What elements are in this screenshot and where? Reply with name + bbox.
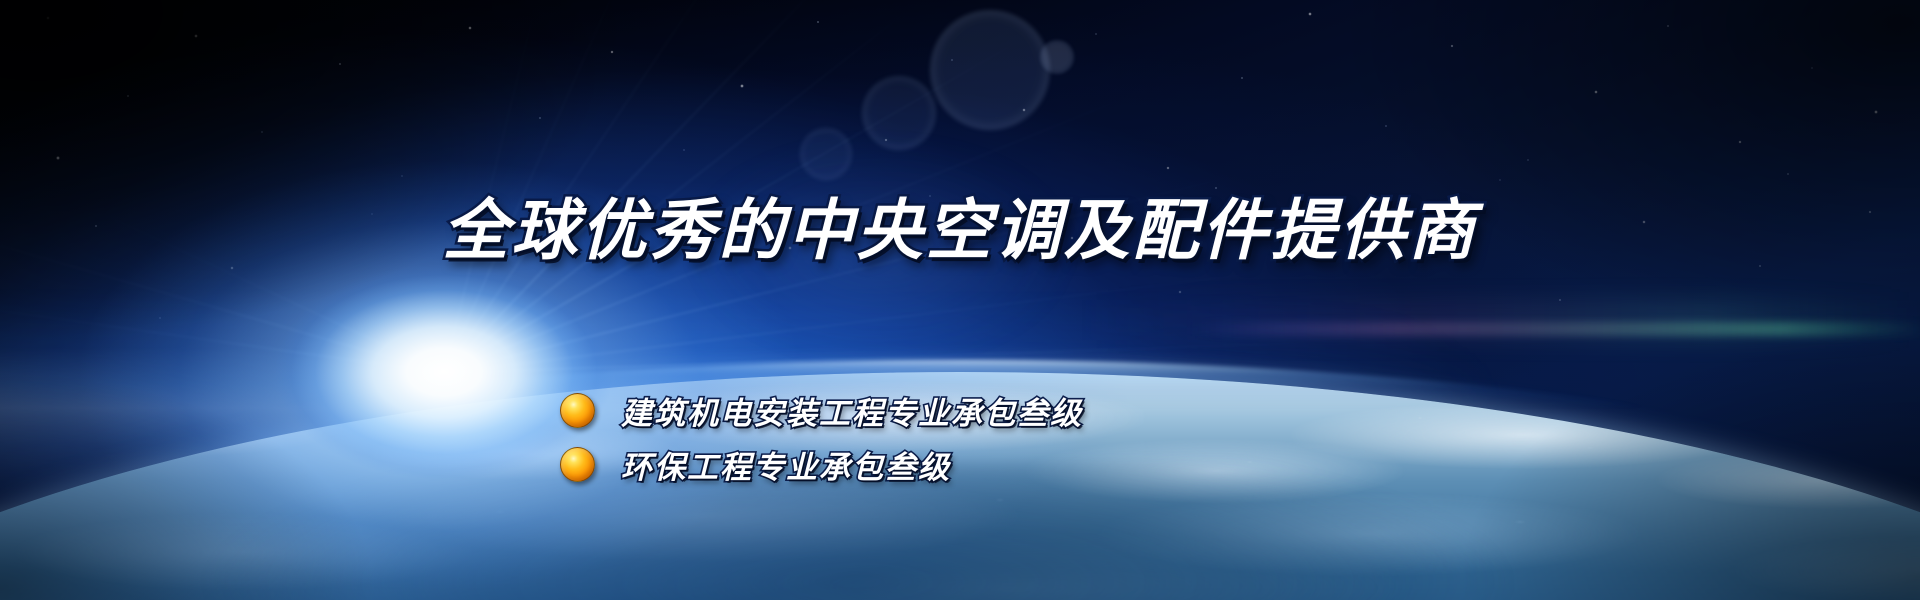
banner-content: 全球优秀的中央空调及配件提供商 建筑机电安装工程专业承包叁级 环保工程专业承包叁…	[0, 0, 1920, 600]
banner-headline: 全球优秀的中央空调及配件提供商	[0, 198, 1920, 264]
feature-list: 建筑机电安装工程专业承包叁级 环保工程专业承包叁级	[560, 384, 1083, 492]
list-item-label: 环保工程专业承包叁级	[621, 442, 951, 487]
list-item: 环保工程专业承包叁级	[560, 438, 1083, 490]
list-item: 建筑机电安装工程专业承包叁级	[560, 384, 1083, 436]
hero-banner: 全球优秀的中央空调及配件提供商 建筑机电安装工程专业承包叁级 环保工程专业承包叁…	[0, 0, 1920, 600]
orange-sphere-bullet-icon	[560, 393, 595, 428]
list-item-label: 建筑机电安装工程专业承包叁级	[621, 388, 1083, 433]
orange-sphere-bullet-icon	[560, 447, 595, 482]
